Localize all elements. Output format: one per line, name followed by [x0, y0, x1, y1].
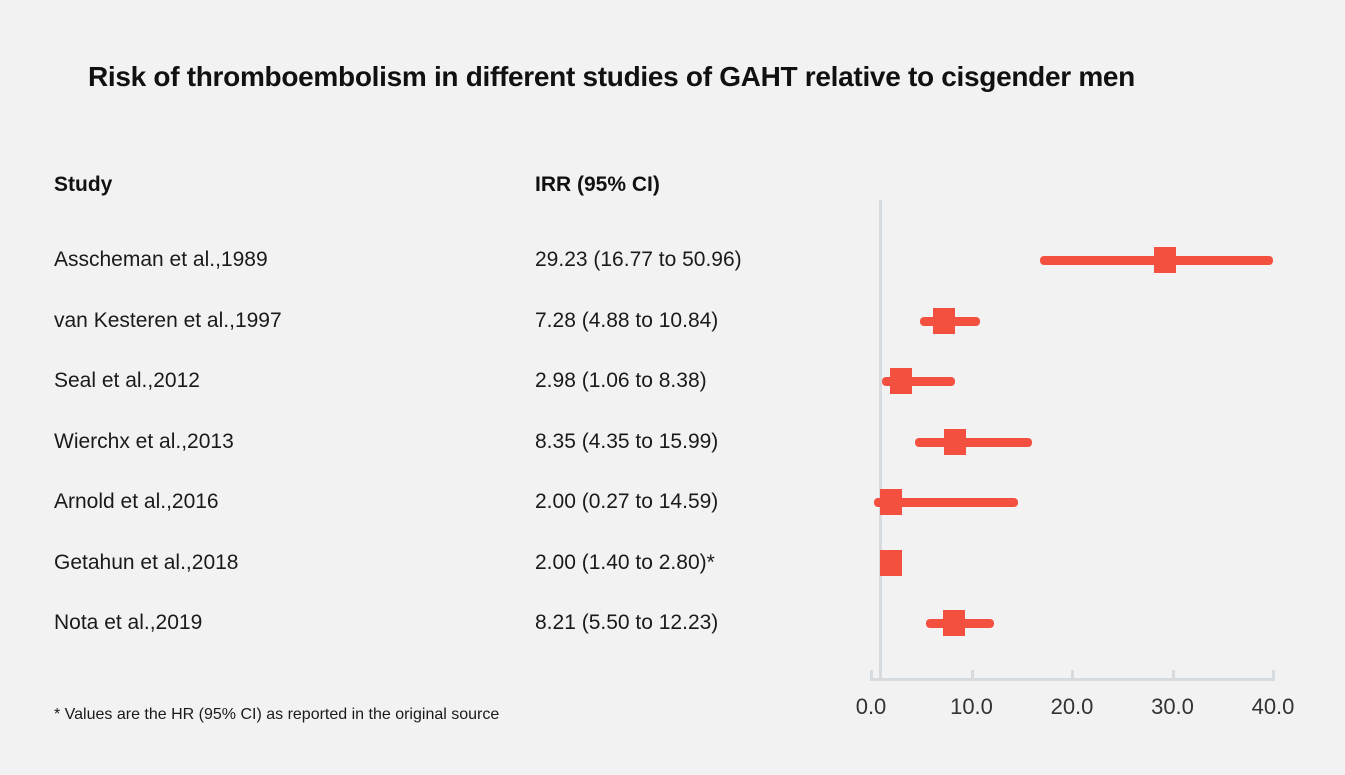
footnote: * Values are the HR (95% CI) as reported…: [54, 706, 499, 724]
x-axis-tick-label: 20.0: [1051, 694, 1094, 720]
table-row: Asscheman et al.,198929.23 (16.77 to 50.…: [0, 243, 1345, 277]
page-title: Risk of thromboembolism in different stu…: [88, 61, 1268, 93]
estimate-value: 29.23 (16.77 to 50.96): [535, 243, 742, 277]
estimate-value: 2.00 (0.27 to 14.59): [535, 485, 718, 519]
study-name: Asscheman et al.,1989: [54, 243, 268, 277]
study-name: Wierchx et al.,2013: [54, 425, 234, 459]
x-axis-tick-label: 0.0: [856, 694, 887, 720]
table-row: Seal et al.,20122.98 (1.06 to 8.38): [0, 364, 1345, 398]
x-axis-line: [871, 678, 1273, 681]
estimate-value: 8.35 (4.35 to 15.99): [535, 425, 718, 459]
estimate-value: 2.98 (1.06 to 8.38): [535, 364, 707, 398]
x-axis-tick-label: 40.0: [1252, 694, 1295, 720]
x-axis-tick: [1272, 670, 1275, 681]
estimate-value: 7.28 (4.88 to 10.84): [535, 304, 718, 338]
x-axis-tick: [870, 670, 873, 681]
estimate-value: 2.00 (1.40 to 2.80)*: [535, 546, 715, 580]
table-row: Arnold et al.,20162.00 (0.27 to 14.59): [0, 485, 1345, 519]
table-row: Getahun et al.,20182.00 (1.40 to 2.80)*: [0, 546, 1345, 580]
table-row: Wierchx et al.,20138.35 (4.35 to 15.99): [0, 425, 1345, 459]
study-name: Seal et al.,2012: [54, 364, 200, 398]
column-header-study: Study: [54, 173, 112, 197]
x-axis-tick-label: 10.0: [950, 694, 993, 720]
study-name: van Kesteren et al.,1997: [54, 304, 282, 338]
study-name: Getahun et al.,2018: [54, 546, 238, 580]
table-row: Nota et al.,20198.21 (5.50 to 12.23): [0, 606, 1345, 640]
x-axis-tick: [1071, 670, 1074, 681]
forest-plot-figure: Risk of thromboembolism in different stu…: [0, 0, 1345, 775]
estimate-value: 8.21 (5.50 to 12.23): [535, 606, 718, 640]
study-name: Arnold et al.,2016: [54, 485, 219, 519]
x-axis-tick: [971, 670, 974, 681]
x-axis-tick-label: 30.0: [1151, 694, 1194, 720]
study-name: Nota et al.,2019: [54, 606, 202, 640]
x-axis-tick: [1172, 670, 1175, 681]
column-header-estimate: IRR (95% CI): [535, 173, 660, 197]
table-row: van Kesteren et al.,19977.28 (4.88 to 10…: [0, 304, 1345, 338]
